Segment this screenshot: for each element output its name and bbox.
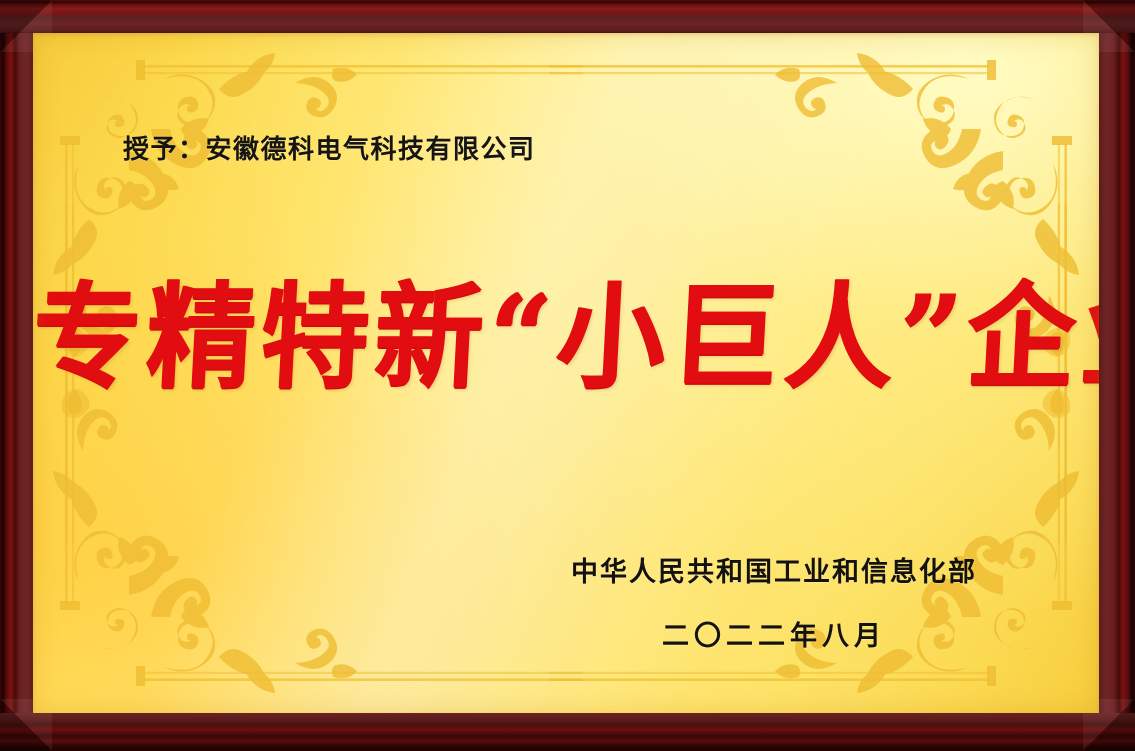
plaque-frame-bottom-rail xyxy=(0,713,1135,751)
plaque-frame-top-rail xyxy=(0,0,1135,33)
gold-plate: 授予：安徽德科电气科技有限公司 专精特新“小巨人”企业 中华人民共和国工业和信息… xyxy=(33,33,1099,713)
award-plaque: 授予：安徽德科电气科技有限公司 专精特新“小巨人”企业 中华人民共和国工业和信息… xyxy=(0,0,1135,751)
issuer-organization: 中华人民共和国工业和信息化部 xyxy=(564,550,984,589)
page-title: 专精特新“小巨人”企业 xyxy=(33,274,1099,402)
issuer-block: 中华人民共和国工业和信息化部 二〇二二年八月 xyxy=(564,550,984,653)
awarded-to-line: 授予：安徽德科电气科技有限公司 xyxy=(123,129,536,166)
issue-date: 二〇二二年八月 xyxy=(564,614,984,653)
plaque-frame-left-rail xyxy=(0,0,33,751)
plaque-frame-right-rail xyxy=(1099,0,1135,751)
